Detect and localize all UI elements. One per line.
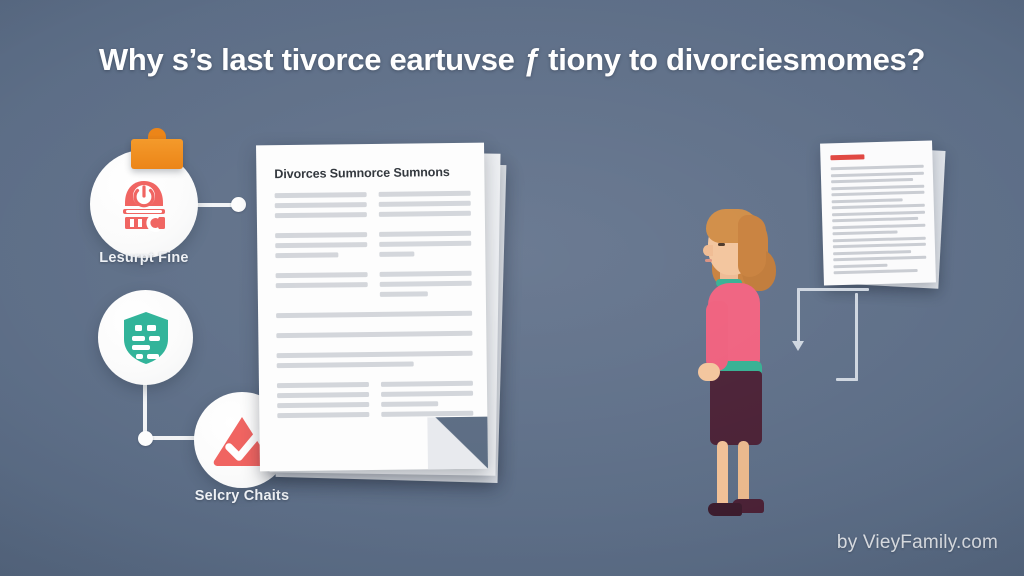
document-line-cell [276, 282, 368, 288]
arm [706, 301, 728, 371]
eye [718, 243, 725, 246]
document-line-cell [381, 391, 473, 397]
infographic-canvas: Why s’s last tivorce eartuvse ƒ tiony to… [0, 0, 1024, 576]
badge-shield[interactable] [98, 290, 193, 385]
right-document-line [833, 230, 898, 235]
document-line-cell [379, 241, 471, 247]
document-line-row [276, 311, 472, 318]
document-line [276, 282, 368, 288]
connector-dot-badge2 [138, 431, 153, 446]
document-line-cell [275, 232, 367, 238]
document-line-cell [277, 392, 369, 398]
shield-document-icon [119, 309, 173, 367]
document-line [277, 392, 369, 398]
courthouse-power-icon [113, 173, 175, 235]
document-line [381, 401, 438, 407]
document-line [381, 391, 473, 397]
document-line-row [276, 291, 472, 298]
document-line-cell [381, 381, 473, 387]
watermark: by VieyFamily.com [837, 532, 998, 554]
document-line [381, 381, 473, 387]
document-line-cell [275, 192, 367, 198]
document-sheet-front: Divorces Sumnorce Sumnons [256, 143, 488, 472]
document-line [276, 272, 368, 278]
document-line-cell [379, 201, 471, 207]
document-line-cell [380, 291, 472, 297]
document-line-cell [381, 401, 473, 407]
document-line-cell [277, 382, 369, 388]
document-line [379, 191, 471, 197]
right-document-line [834, 269, 918, 274]
document-line [275, 212, 367, 218]
lips [705, 259, 712, 262]
page-fold-corner [427, 417, 488, 472]
document-line [380, 281, 472, 287]
document-line-cell [379, 191, 471, 197]
document-heading: Divorces Sumnorce Sumnons [274, 165, 470, 181]
document-line [275, 242, 367, 248]
document-line-row [277, 391, 473, 398]
document-line [379, 231, 471, 237]
right-document-line [832, 223, 925, 229]
right-document-lines [831, 165, 927, 278]
document-line-row [276, 281, 472, 288]
document-line [275, 252, 338, 258]
page-title-part2: tiony to divorciesmomes? [540, 42, 925, 77]
person-illustration [690, 205, 810, 505]
nose [703, 245, 713, 256]
document-line-cell [380, 281, 472, 287]
document-line-cell [379, 211, 471, 217]
right-document-line [833, 256, 926, 262]
document-line [379, 211, 471, 217]
document-line [380, 271, 472, 277]
document-line [379, 201, 471, 207]
document-line-row [275, 241, 471, 248]
right-document-line [831, 191, 924, 197]
document-line-row [277, 361, 473, 368]
right-document-front [820, 140, 936, 285]
badge-label-lesurpt-fine: Lesurpt Fine [74, 250, 214, 266]
document-line-row [275, 231, 471, 238]
document-line [277, 361, 414, 368]
document-line-cell [276, 272, 368, 278]
connector-dot-badge1 [231, 197, 246, 212]
center-document-stack[interactable]: Divorces Sumnorce Sumnons [250, 140, 510, 485]
document-line-row [277, 401, 473, 408]
right-document-line [833, 243, 926, 249]
page-title-part1: Why s’s last tivorce eartuvse [99, 42, 523, 77]
document-line-row [276, 271, 472, 278]
document-line [277, 351, 473, 358]
binder-clip [131, 139, 183, 169]
document-line-cell [380, 271, 472, 277]
skirt [710, 371, 762, 445]
right-document-line [833, 236, 926, 242]
doc-connector-vertical [855, 293, 858, 381]
leg-front [717, 441, 728, 509]
document-line-cell [275, 242, 367, 248]
document-line-row [277, 351, 473, 358]
right-document-line [832, 217, 918, 222]
document-line-cell [277, 412, 369, 418]
hand [698, 363, 720, 381]
document-line-cell [275, 212, 367, 218]
right-document-line [833, 263, 887, 268]
right-document-header-bar [830, 154, 864, 160]
document-line-row [275, 251, 471, 258]
document-line [379, 241, 471, 247]
document-line [379, 251, 414, 256]
document-line-cell [379, 231, 471, 237]
document-line [277, 412, 369, 418]
page-title: Why s’s last tivorce eartuvse ƒ tiony to… [0, 42, 1024, 78]
document-line [275, 232, 367, 238]
document-line-row [277, 381, 473, 388]
document-line [276, 331, 472, 338]
hair-side [738, 215, 766, 277]
right-document-line [832, 198, 903, 203]
document-line [380, 291, 428, 297]
right-document-line [831, 178, 913, 183]
document-line [276, 311, 472, 318]
document-line [275, 202, 367, 208]
document-line-row [275, 201, 471, 208]
doc-connector-horizontal [836, 378, 858, 381]
right-document-line [831, 165, 924, 171]
right-document-line [831, 171, 924, 177]
page-title-italic: ƒ [523, 42, 540, 77]
badge-label-selcry-chaits: Selcry Chaits [172, 488, 312, 504]
document-line-cell [275, 202, 367, 208]
shoe-front [708, 503, 742, 516]
document-line-row [275, 191, 471, 198]
document-line-cell [277, 402, 369, 408]
right-document-line [832, 210, 925, 216]
right-document-line [833, 250, 911, 255]
document-line [275, 192, 367, 198]
document-line [277, 382, 369, 388]
document-line [277, 402, 369, 408]
document-body-lines [275, 191, 474, 423]
right-document-line [832, 204, 925, 210]
right-document-line [831, 184, 924, 190]
document-line-cell [379, 251, 471, 257]
right-document-stack[interactable] [818, 140, 946, 292]
document-line-row [276, 331, 472, 338]
document-line-cell [275, 252, 367, 258]
document-line-row [275, 211, 471, 218]
document-line-cell [276, 292, 368, 298]
